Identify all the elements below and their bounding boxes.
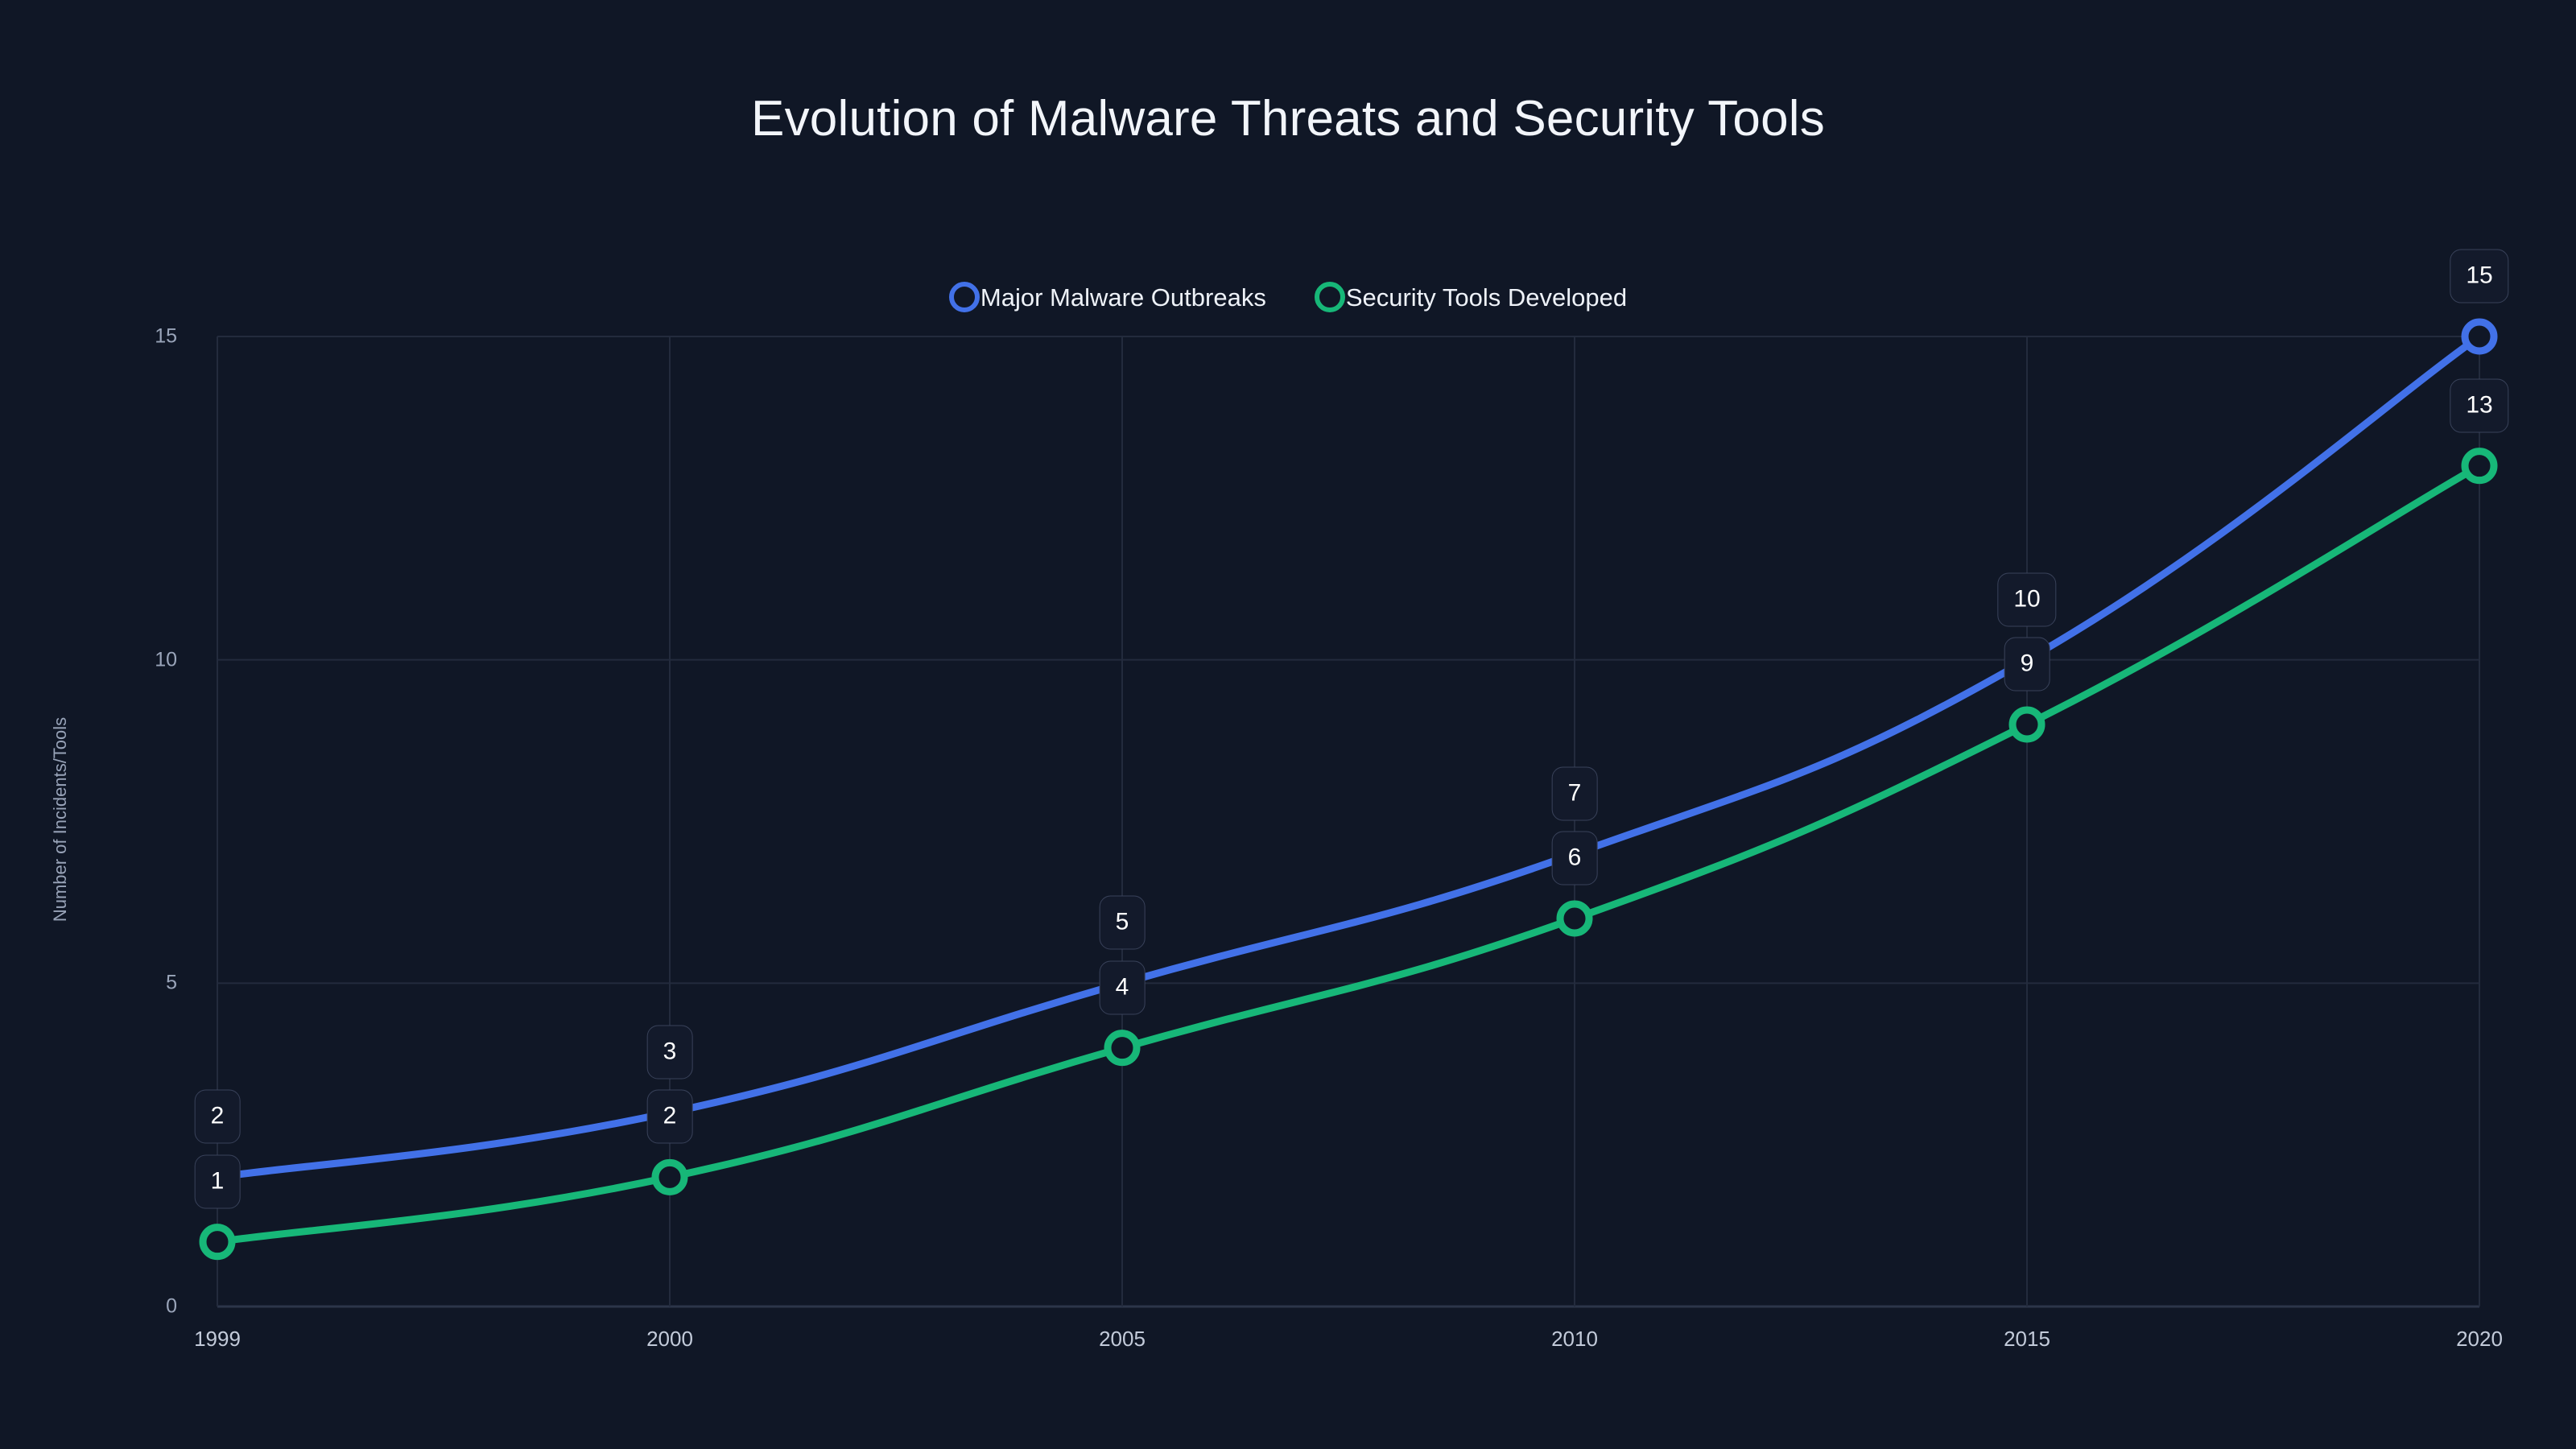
series-marker[interactable]	[655, 1162, 684, 1191]
data-point-label: 4	[1100, 960, 1146, 1014]
data-point-label: 5	[1100, 896, 1146, 950]
data-point-label: 15	[2450, 250, 2508, 303]
series-marker[interactable]	[2465, 452, 2494, 481]
series-marker[interactable]	[2465, 322, 2494, 351]
plot-area	[0, 0, 2576, 1449]
chart-container: Evolution of Malware Threats and Securit…	[0, 0, 2576, 1449]
data-point-label: 3	[647, 1026, 693, 1080]
data-point-label: 7	[1552, 766, 1598, 820]
data-point-label: 10	[1997, 572, 2056, 626]
data-point-label: 9	[2004, 638, 2050, 691]
series-line	[217, 466, 2479, 1242]
data-point-label: 1	[195, 1154, 241, 1208]
series-marker[interactable]	[203, 1228, 232, 1257]
series-marker[interactable]	[1560, 904, 1589, 933]
series-marker[interactable]	[2013, 710, 2041, 739]
data-point-label: 2	[647, 1090, 693, 1144]
series-marker[interactable]	[1108, 1034, 1137, 1063]
data-point-label: 13	[2450, 378, 2508, 432]
series-line	[217, 336, 2479, 1177]
data-point-label: 2	[195, 1090, 241, 1144]
data-point-label: 6	[1552, 832, 1598, 885]
